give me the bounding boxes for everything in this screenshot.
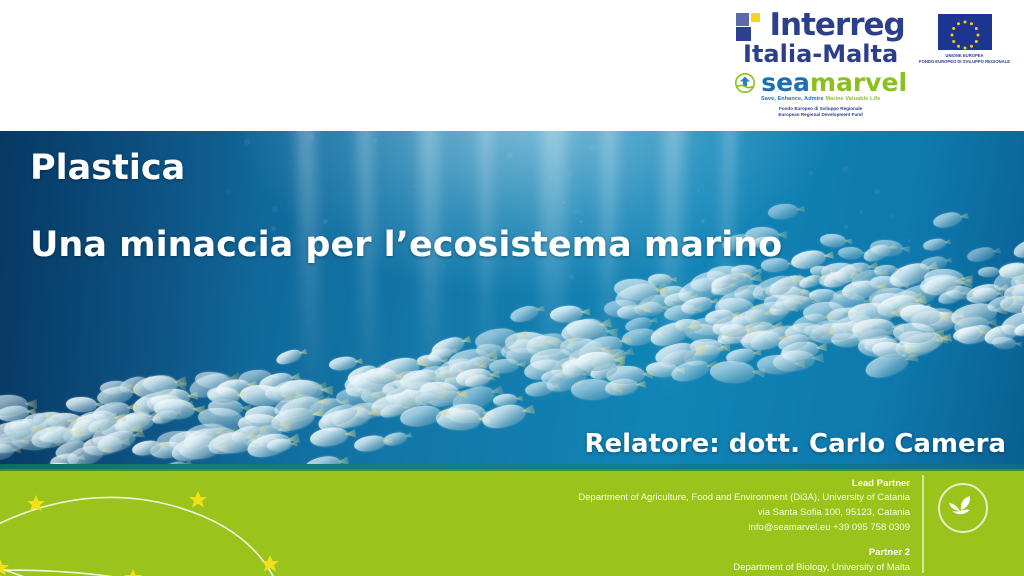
eu-caption: UNIONE EUROPEA FONDO EUROPEO DI SVILUPPO… bbox=[919, 53, 1010, 65]
logo-header: Interreg Italia-Malta seamarvel Save, En… bbox=[0, 0, 1024, 131]
hand-holding-leaf-icon bbox=[938, 483, 988, 533]
lead-partner-address: via Santa Sofia 100, 95123, Catania bbox=[578, 506, 910, 521]
interreg-programme: Italia-Malta bbox=[743, 42, 898, 67]
tagline-part-a: Save, Enhance, Admire bbox=[761, 96, 824, 102]
star-network-decoration bbox=[0, 471, 450, 576]
partner2-org: Department of Biology, University of Mal… bbox=[578, 561, 910, 576]
fund-credit-en: European Regional Development Fund bbox=[778, 112, 862, 118]
presentation-slide: Interreg Italia-Malta seamarvel Save, En… bbox=[0, 0, 1024, 576]
sea-marvel-tagline: Save, Enhance, Admire Marine Valuable Li… bbox=[761, 96, 880, 102]
partners-footer: Lead Partner Department of Agriculture, … bbox=[0, 471, 1024, 576]
sea-marvel-marvel: marvel bbox=[810, 68, 907, 97]
footer-divider-line bbox=[922, 475, 924, 573]
hero-underwater-image: Plastica Una minaccia per l’ecosistema m… bbox=[0, 131, 1024, 467]
speaker-credit: Relatore: dott. Carlo Camera bbox=[584, 429, 1006, 459]
interreg-name: Interreg bbox=[769, 10, 904, 41]
title-line-2: Una minaccia per l’ecosistema marino bbox=[30, 226, 782, 265]
title-block: Plastica Una minaccia per l’ecosistema m… bbox=[30, 149, 782, 264]
interreg-wordmark-row: Interreg bbox=[736, 10, 904, 41]
sea-marvel-logo: seamarvel bbox=[734, 70, 907, 95]
eu-caption-line2: FONDO EUROPEO DI SVILUPPO REGIONALE bbox=[919, 59, 1010, 65]
title-line-1: Plastica bbox=[30, 149, 782, 188]
lead-partner-org: Department of Agriculture, Food and Envi… bbox=[578, 491, 910, 506]
lead-partner-contact[interactable]: info@seamarvel.eu +39 095 758 0309 bbox=[578, 521, 910, 536]
interreg-logo: Interreg Italia-Malta seamarvel Save, En… bbox=[734, 10, 907, 119]
teal-divider bbox=[0, 464, 1024, 471]
sea-marvel-sea: sea bbox=[761, 68, 810, 97]
partner-info: Lead Partner Department of Agriculture, … bbox=[578, 477, 910, 575]
recycle-wave-icon bbox=[734, 72, 756, 94]
partner2-label: Partner 2 bbox=[578, 546, 910, 560]
lead-partner-label: Lead Partner bbox=[578, 477, 910, 491]
eu-flag-icon bbox=[938, 14, 992, 50]
eu-emblem: UNIONE EUROPEA FONDO EUROPEO DI SVILUPPO… bbox=[919, 14, 1010, 65]
tagline-part-b: Marine Valuable Life bbox=[825, 96, 880, 102]
interreg-squares-mark-icon bbox=[736, 12, 762, 40]
logo-cluster: Interreg Italia-Malta seamarvel Save, En… bbox=[734, 10, 1010, 119]
fund-credit: Fondo Europeo di Sviluppo Regionale Euro… bbox=[778, 106, 862, 118]
